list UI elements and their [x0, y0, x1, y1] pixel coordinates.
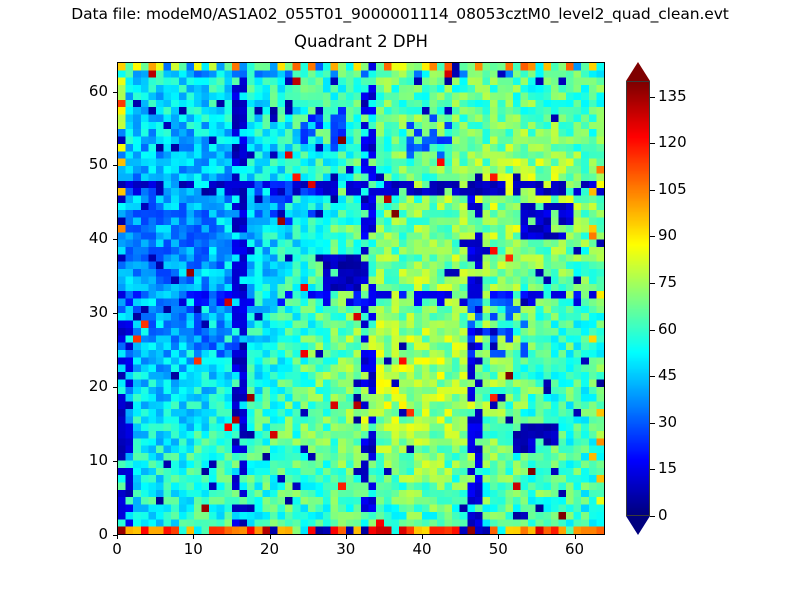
colorbar-tick-label: 0: [658, 506, 668, 524]
y-tick-mark: [113, 313, 117, 314]
colorbar-tick-mark: [650, 143, 655, 144]
x-tick-mark: [270, 535, 271, 539]
y-tick-mark: [113, 387, 117, 388]
colorbar-tick-label: 45: [658, 366, 677, 384]
colorbar-tick-label: 60: [658, 320, 677, 338]
colorbar-tick-mark: [650, 283, 655, 284]
y-tick-label: 50: [48, 155, 108, 173]
colorbar-tick-mark: [650, 469, 655, 470]
colorbar-tick-mark: [650, 423, 655, 424]
y-tick-label: 0: [48, 525, 108, 543]
colorbar-tick-mark: [650, 330, 655, 331]
colorbar[interactable]: 0153045607590105120135: [626, 62, 650, 535]
colorbar-tick-label: 15: [658, 459, 677, 477]
x-tick-mark: [193, 535, 194, 539]
colorbar-body: [626, 81, 650, 516]
heatmap-plot-area[interactable]: [117, 62, 605, 535]
y-tick-label: 30: [48, 303, 108, 321]
colorbar-tick-mark: [650, 236, 655, 237]
colorbar-tick-label: 135: [658, 87, 687, 105]
colorbar-tick-label: 120: [658, 133, 687, 151]
y-tick-label: 60: [48, 82, 108, 100]
x-tick-mark: [498, 535, 499, 539]
colorbar-tick-label: 30: [658, 413, 677, 431]
x-tick-label: 30: [316, 540, 376, 558]
x-tick-label: 60: [545, 540, 605, 558]
y-tick-mark: [113, 535, 117, 536]
colorbar-tick-mark: [650, 516, 655, 517]
colorbar-tick-mark: [650, 376, 655, 377]
colorbar-tick-label: 105: [658, 180, 687, 198]
y-tick-mark: [113, 165, 117, 166]
page-title: Quadrant 2 DPH: [117, 32, 605, 51]
colorbar-tick-label: 90: [658, 226, 677, 244]
colorbar-extend-top-arrow: [626, 62, 650, 81]
x-tick-mark: [117, 535, 118, 539]
x-tick-label: 40: [392, 540, 452, 558]
colorbar-gradient: [627, 82, 649, 515]
colorbar-tick-mark: [650, 190, 655, 191]
x-tick-label: 20: [240, 540, 300, 558]
colorbar-extend-bottom-arrow: [626, 516, 650, 535]
x-tick-label: 50: [468, 540, 528, 558]
y-tick-mark: [113, 92, 117, 93]
x-tick-mark: [422, 535, 423, 539]
figure-canvas: Data file: modeM0/AS1A02_055T01_90000011…: [0, 0, 800, 600]
heatmap-image: [118, 63, 604, 534]
x-tick-mark: [346, 535, 347, 539]
y-tick-label: 20: [48, 377, 108, 395]
data-file-suptitle: Data file: modeM0/AS1A02_055T01_90000011…: [0, 5, 800, 23]
x-tick-mark: [575, 535, 576, 539]
colorbar-tick-label: 75: [658, 273, 677, 291]
y-tick-mark: [113, 239, 117, 240]
y-tick-label: 10: [48, 451, 108, 469]
y-tick-mark: [113, 461, 117, 462]
x-tick-label: 10: [163, 540, 223, 558]
colorbar-tick-mark: [650, 97, 655, 98]
y-tick-label: 40: [48, 229, 108, 247]
